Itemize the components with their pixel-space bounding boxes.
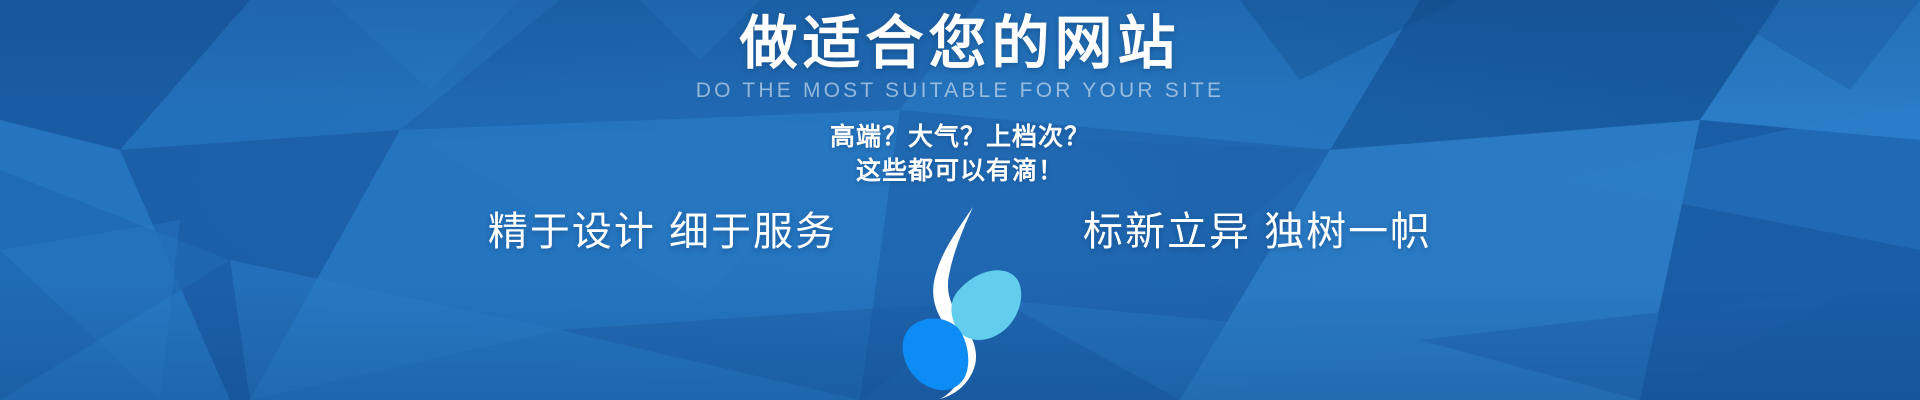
- slogan-right: 标新立异 独树一帜: [1025, 212, 1455, 252]
- logo-leaf-lower: [903, 318, 969, 390]
- english-subtitle: DO THE MOST SUITABLE FOR YOUR SITE: [696, 79, 1224, 103]
- tagline-block: 高端？大气？上档次？ 这些都可以有滴！: [830, 120, 1090, 188]
- hero-banner: 做适合您的网站 DO THE MOST SUITABLE FOR YOUR SI…: [0, 0, 1920, 400]
- slogan-left: 精于设计 细于服务: [465, 212, 895, 252]
- tagline-line-1: 高端？大气？上档次？: [830, 120, 1090, 154]
- page-title: 做适合您的网站: [739, 14, 1180, 75]
- tagline-line-2: 这些都可以有滴！: [830, 154, 1090, 188]
- sprout-leaf-logo-icon: [895, 205, 1025, 400]
- logo-leaf-upper: [951, 270, 1021, 340]
